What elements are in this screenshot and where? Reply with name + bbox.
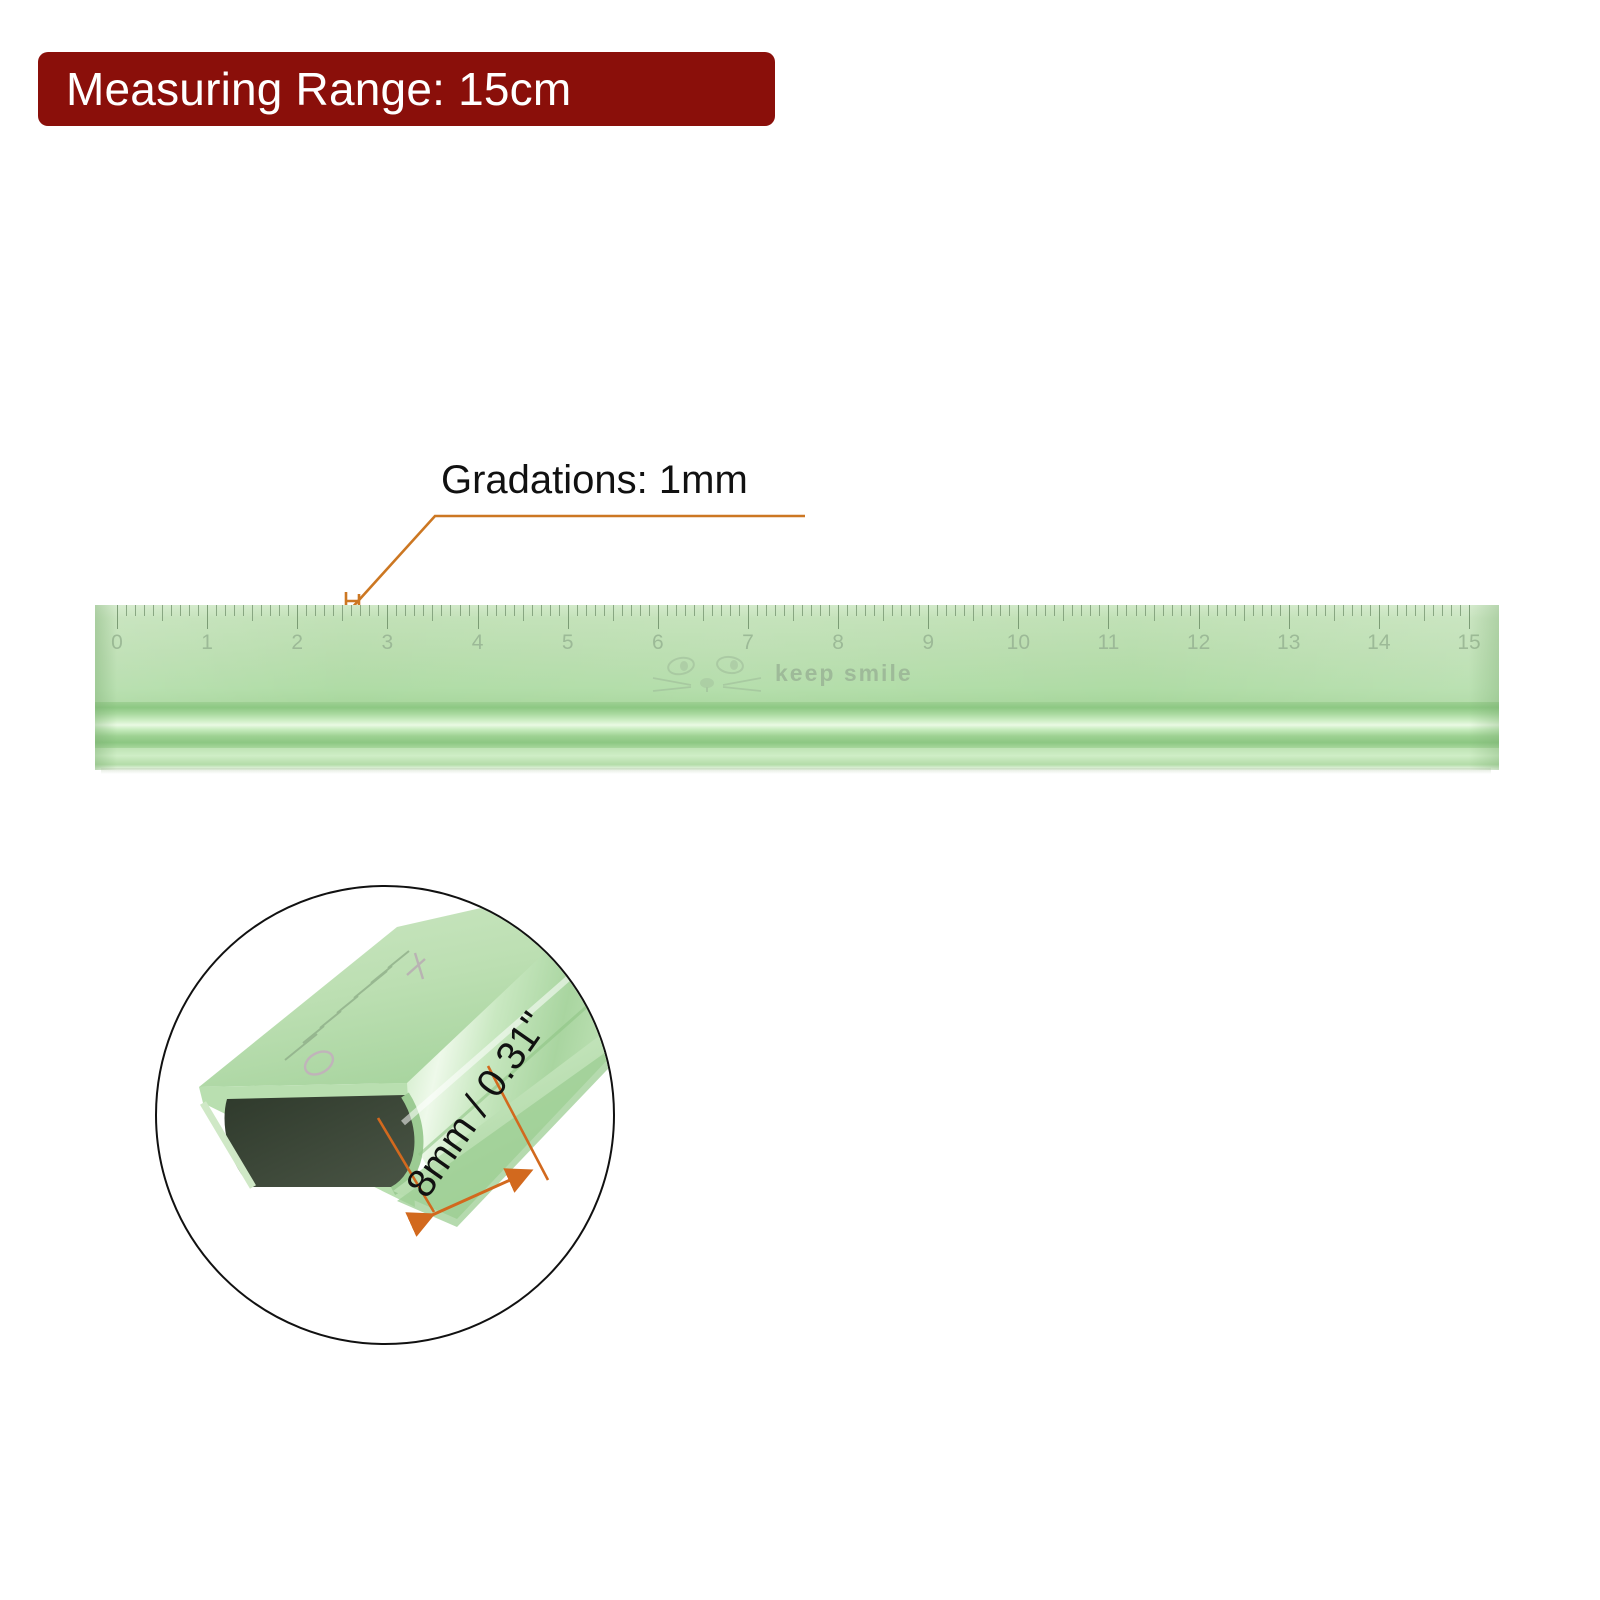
scale-tick-mm [225,605,226,616]
scale-tick-mm [243,605,244,616]
scale-tick-mm [351,605,352,616]
scale-tick-mm [631,605,632,616]
scale-tick-mm [1054,605,1055,616]
scale-number-label: 3 [382,631,394,655]
scale-tick-mm [937,605,938,616]
scale-tick-mm [541,605,542,616]
scale-tick-mm [378,605,379,616]
scale-tick-mm [514,605,515,616]
scale-tick-mm [126,605,127,616]
scale-tick-mm [991,605,992,616]
scale-tick-mm [523,605,524,621]
scale-tick-mm [550,605,551,616]
scale-tick-mm [982,605,983,616]
scale-tick-cm [1108,605,1109,629]
ruler-bevel-band [95,702,1499,748]
scale-tick-cm [478,605,479,629]
scale-tick-mm [1235,605,1236,616]
scale-tick-mm [1253,605,1254,616]
scale-tick-mm [613,605,614,621]
scale-tick-mm [1271,605,1272,616]
scale-tick-mm [1208,605,1209,616]
scale-tick-mm [1172,605,1173,616]
ruler-bottom-lip [95,748,1499,770]
scale-tick-mm [1352,605,1353,616]
scale-tick-mm [640,605,641,616]
scale-tick-mm [802,605,803,616]
scale-tick-mm [1316,605,1317,616]
scale-tick-cm [387,605,388,629]
scale-number-label: 12 [1187,631,1210,655]
scale-tick-cm [928,605,929,629]
scale-tick-mm [288,605,289,616]
scale-tick-mm [1451,605,1452,616]
scale-number-label: 7 [742,631,754,655]
scale-tick-mm [703,605,704,621]
scale-tick-mm [405,605,406,616]
scale-tick-mm [586,605,587,616]
scale-tick-mm [135,605,136,616]
keep-smile-engraving: keep smile [775,660,913,687]
scale-tick-mm [604,605,605,616]
scale-tick-mm [1163,605,1164,616]
scale-tick-mm [712,605,713,616]
scale-number-label: 4 [472,631,484,655]
scale-number-label: 2 [291,631,303,655]
scale-number-label: 13 [1277,631,1300,655]
scale-tick-cm [1289,605,1290,629]
scale-tick-mm [766,605,767,616]
scale-tick-mm [1343,605,1344,616]
scale-tick-cm [117,605,118,629]
scale-tick-mm [1181,605,1182,616]
scale-tick-mm [1460,605,1461,616]
scale-tick-mm [198,605,199,616]
scale-tick-cm [568,605,569,629]
scale-tick-mm [820,605,821,616]
scale-tick-mm [1388,605,1389,616]
scale-tick-mm [306,605,307,616]
scale-tick-mm [955,605,956,616]
scale-tick-mm [721,605,722,616]
scale-tick-cm [838,605,839,629]
cross-section-illustration [157,887,613,1343]
scale-tick-mm [279,605,280,616]
scale-tick-mm [1307,605,1308,616]
scale-tick-mm [793,605,794,621]
scale-tick-mm [1415,605,1416,616]
scale-tick-mm [865,605,866,616]
scale-number-label: 9 [922,631,934,655]
scale-tick-mm [577,605,578,616]
scale-number-label: 8 [832,631,844,655]
scale-tick-mm [144,605,145,616]
scale-tick-mm [1081,605,1082,616]
scale-tick-mm [946,605,947,616]
scale-tick-mm [180,605,181,616]
scale-tick-mm [784,605,785,616]
scale-tick-mm [667,605,668,616]
scale-tick-mm [1334,605,1335,621]
scale-tick-mm [883,605,884,621]
scale-tick-mm [1145,605,1146,616]
scale-tick-mm [676,605,677,616]
scale-tick-mm [1397,605,1398,616]
scale-tick-mm [775,605,776,616]
scale-tick-mm [189,605,190,616]
ruler-scale: 0123456789101112131415 [117,605,1469,702]
scale-tick-cm [297,605,298,629]
scale-tick-mm [1027,605,1028,616]
scale-tick-cm [207,605,208,629]
scale-tick-mm [847,605,848,616]
scale-tick-mm [460,605,461,616]
scale-tick-mm [559,605,560,616]
scale-tick-mm [1244,605,1245,621]
scale-tick-mm [1036,605,1037,616]
scale-tick-mm [1361,605,1362,616]
scale-tick-mm [973,605,974,621]
scale-tick-mm [1126,605,1127,616]
scale-tick-mm [315,605,316,616]
cross-section-detail-circle [155,885,615,1345]
scale-tick-mm [1154,605,1155,621]
scale-tick-mm [360,605,361,616]
scale-tick-mm [441,605,442,616]
scale-tick-mm [901,605,902,616]
scale-tick-mm [1280,605,1281,616]
scale-tick-mm [532,605,533,616]
scale-tick-mm [333,605,334,616]
ruler-right-end [1469,605,1499,770]
scale-tick-mm [1442,605,1443,616]
measuring-range-label: Measuring Range: 15cm [66,66,571,112]
scale-tick-cm [1199,605,1200,629]
scale-tick-mm [1190,605,1191,616]
scale-tick-mm [1117,605,1118,616]
scale-tick-mm [450,605,451,616]
scale-tick-mm [919,605,920,616]
scale-tick-mm [694,605,695,616]
scale-tick-mm [234,605,235,616]
scale-tick-mm [649,605,650,616]
scale-tick-mm [1000,605,1001,616]
scale-tick-mm [261,605,262,616]
scale-tick-mm [622,605,623,616]
scale-tick-mm [1009,605,1010,616]
scale-tick-mm [252,605,253,621]
ruler-left-end [95,605,117,770]
scale-number-label: 1 [201,631,213,655]
scale-tick-mm [423,605,424,616]
scale-tick-mm [1217,605,1218,616]
scale-number-label: 14 [1367,631,1390,655]
scale-tick-cm [1379,605,1380,629]
scale-tick-mm [324,605,325,616]
scale-tick-cm [1018,605,1019,629]
scale-tick-mm [487,605,488,616]
scale-tick-mm [342,605,343,621]
scale-tick-mm [369,605,370,616]
scale-tick-mm [757,605,758,616]
ruler-drop-shadow [101,768,1491,774]
scale-tick-mm [964,605,965,616]
scale-tick-cm [748,605,749,629]
scale-tick-cm [658,605,659,629]
scale-number-label: 11 [1098,631,1120,655]
scale-tick-mm [216,605,217,616]
cat-face-engraving-icon [651,654,771,696]
scale-tick-mm [856,605,857,616]
scale-tick-mm [162,605,163,621]
scale-tick-mm [1045,605,1046,616]
scale-tick-mm [432,605,433,621]
scale-tick-mm [892,605,893,616]
scale-tick-mm [469,605,470,616]
scale-tick-mm [1370,605,1371,616]
scale-tick-mm [1325,605,1326,616]
scale-tick-mm [496,605,497,616]
gradations-callout-label: Gradations: 1mm [441,458,748,503]
measuring-range-banner: Measuring Range: 15cm [38,52,775,126]
scale-tick-mm [1262,605,1263,616]
scale-tick-mm [1298,605,1299,616]
scale-tick-mm [414,605,415,616]
scale-tick-mm [730,605,731,616]
scale-tick-mm [1433,605,1434,616]
ruler-product-image: 0123456789101112131415 keep smile [95,602,1499,774]
scale-tick-mm [874,605,875,616]
scale-tick-mm [505,605,506,616]
scale-tick-mm [685,605,686,616]
scale-tick-mm [1424,605,1425,621]
scale-number-label: 5 [562,631,574,655]
scale-tick-mm [396,605,397,616]
scale-tick-mm [1090,605,1091,616]
scale-tick-mm [910,605,911,616]
scale-number-label: 6 [652,631,664,655]
scale-tick-mm [270,605,271,616]
scale-tick-mm [1136,605,1137,616]
scale-number-label: 10 [1007,631,1030,655]
scale-tick-mm [811,605,812,616]
scale-tick-mm [829,605,830,616]
scale-tick-mm [171,605,172,616]
scale-tick-mm [595,605,596,616]
scale-tick-mm [1063,605,1064,621]
scale-tick-mm [1226,605,1227,616]
scale-tick-mm [1072,605,1073,616]
scale-tick-mm [1406,605,1407,616]
scale-tick-mm [739,605,740,616]
scale-tick-mm [153,605,154,616]
scale-tick-mm [1099,605,1100,616]
